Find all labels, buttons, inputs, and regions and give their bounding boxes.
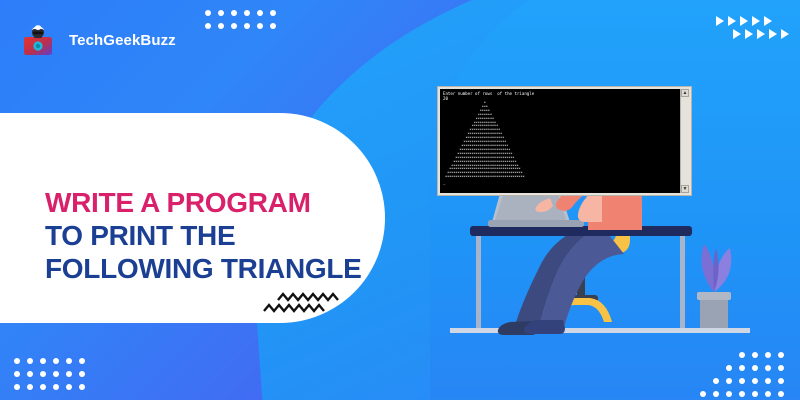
scroll-up-arrow-icon[interactable]: ▲ (681, 89, 689, 97)
triangle-right-arrow-icon (769, 29, 777, 39)
decor-dot (53, 384, 59, 390)
decor-dot (270, 10, 276, 16)
headline-line-2: TO PRINT THE (45, 219, 362, 252)
decor-dot (27, 384, 33, 390)
decor-dot (244, 23, 250, 29)
decor-dot (66, 384, 72, 390)
triangle-right-arrow-icon (781, 29, 789, 39)
decor-dot (257, 10, 263, 16)
triangle-right-arrow-icon (716, 16, 724, 26)
triangle-right-arrow-icon (733, 29, 741, 39)
decor-dot (40, 371, 46, 377)
laptop-base (488, 220, 584, 227)
zigzag-decoration (262, 292, 344, 323)
decor-dot (40, 358, 46, 364)
desk-leg-left (476, 236, 481, 328)
decor-dot (79, 371, 85, 377)
desk-leg-right (680, 236, 685, 328)
brand-logo[interactable]: TechGeekBuzz (18, 20, 176, 60)
scroll-down-arrow-icon[interactable]: ▼ (681, 185, 689, 193)
arrow-row-top-right-1 (716, 16, 772, 26)
decor-dot (40, 384, 46, 390)
poster-canvas: TechGeekBuzz Enter number of rows of the… (0, 0, 800, 400)
zigzag-line-1 (278, 294, 338, 300)
decor-dot (218, 23, 224, 29)
brand-name: TechGeekBuzz (69, 32, 176, 49)
decor-dot (14, 371, 20, 377)
terminal-cursor: _ (443, 180, 677, 185)
arrow-row-top-right-2 (733, 29, 789, 39)
triangle-right-arrow-icon (757, 29, 765, 39)
plant-pot (700, 298, 728, 328)
decor-dot (79, 384, 85, 390)
terminal-pyramid-output: * *** ***** ******* ********* **********… (443, 102, 677, 180)
triangle-right-arrow-icon (740, 16, 748, 26)
floor-line (450, 328, 750, 333)
decor-dot (244, 10, 250, 16)
decor-dot (27, 371, 33, 377)
triangle-right-arrow-icon (745, 29, 753, 39)
decor-dot (53, 358, 59, 364)
decor-dot (270, 23, 276, 29)
triangle-right-arrow-icon (752, 16, 760, 26)
triangle-right-arrow-icon (764, 16, 772, 26)
terminal-window[interactable]: Enter number of rows of the triangle 20 … (437, 86, 692, 196)
terminal-scrollbar[interactable]: ▲ ▼ (680, 89, 689, 193)
page-title: WRITE A PROGRAM TO PRINT THE FOLLOWING T… (45, 186, 362, 285)
decor-dot (66, 358, 72, 364)
decor-dot (231, 10, 237, 16)
plant-leaf-left (702, 244, 715, 292)
decor-dot (231, 23, 237, 29)
decor-dot (205, 23, 211, 29)
headline-line-3: FOLLOWING TRIANGLE (45, 252, 362, 285)
techgeekbuzz-logo-icon (18, 20, 58, 60)
decor-dot (53, 371, 59, 377)
desk-top (470, 226, 692, 236)
decor-dot (79, 358, 85, 364)
decor-dot (27, 358, 33, 364)
decor-dot (218, 10, 224, 16)
plant-pot-rim (697, 292, 731, 300)
decor-dot (14, 384, 20, 390)
decor-dot (257, 23, 263, 29)
headline-line-1: WRITE A PROGRAM (45, 186, 362, 219)
terminal-screen: Enter number of rows of the triangle 20 … (440, 89, 680, 193)
decor-dot (66, 371, 72, 377)
zigzag-line-2 (264, 305, 324, 311)
decor-dot (205, 10, 211, 16)
triangle-right-arrow-icon (728, 16, 736, 26)
decor-dot (14, 358, 20, 364)
